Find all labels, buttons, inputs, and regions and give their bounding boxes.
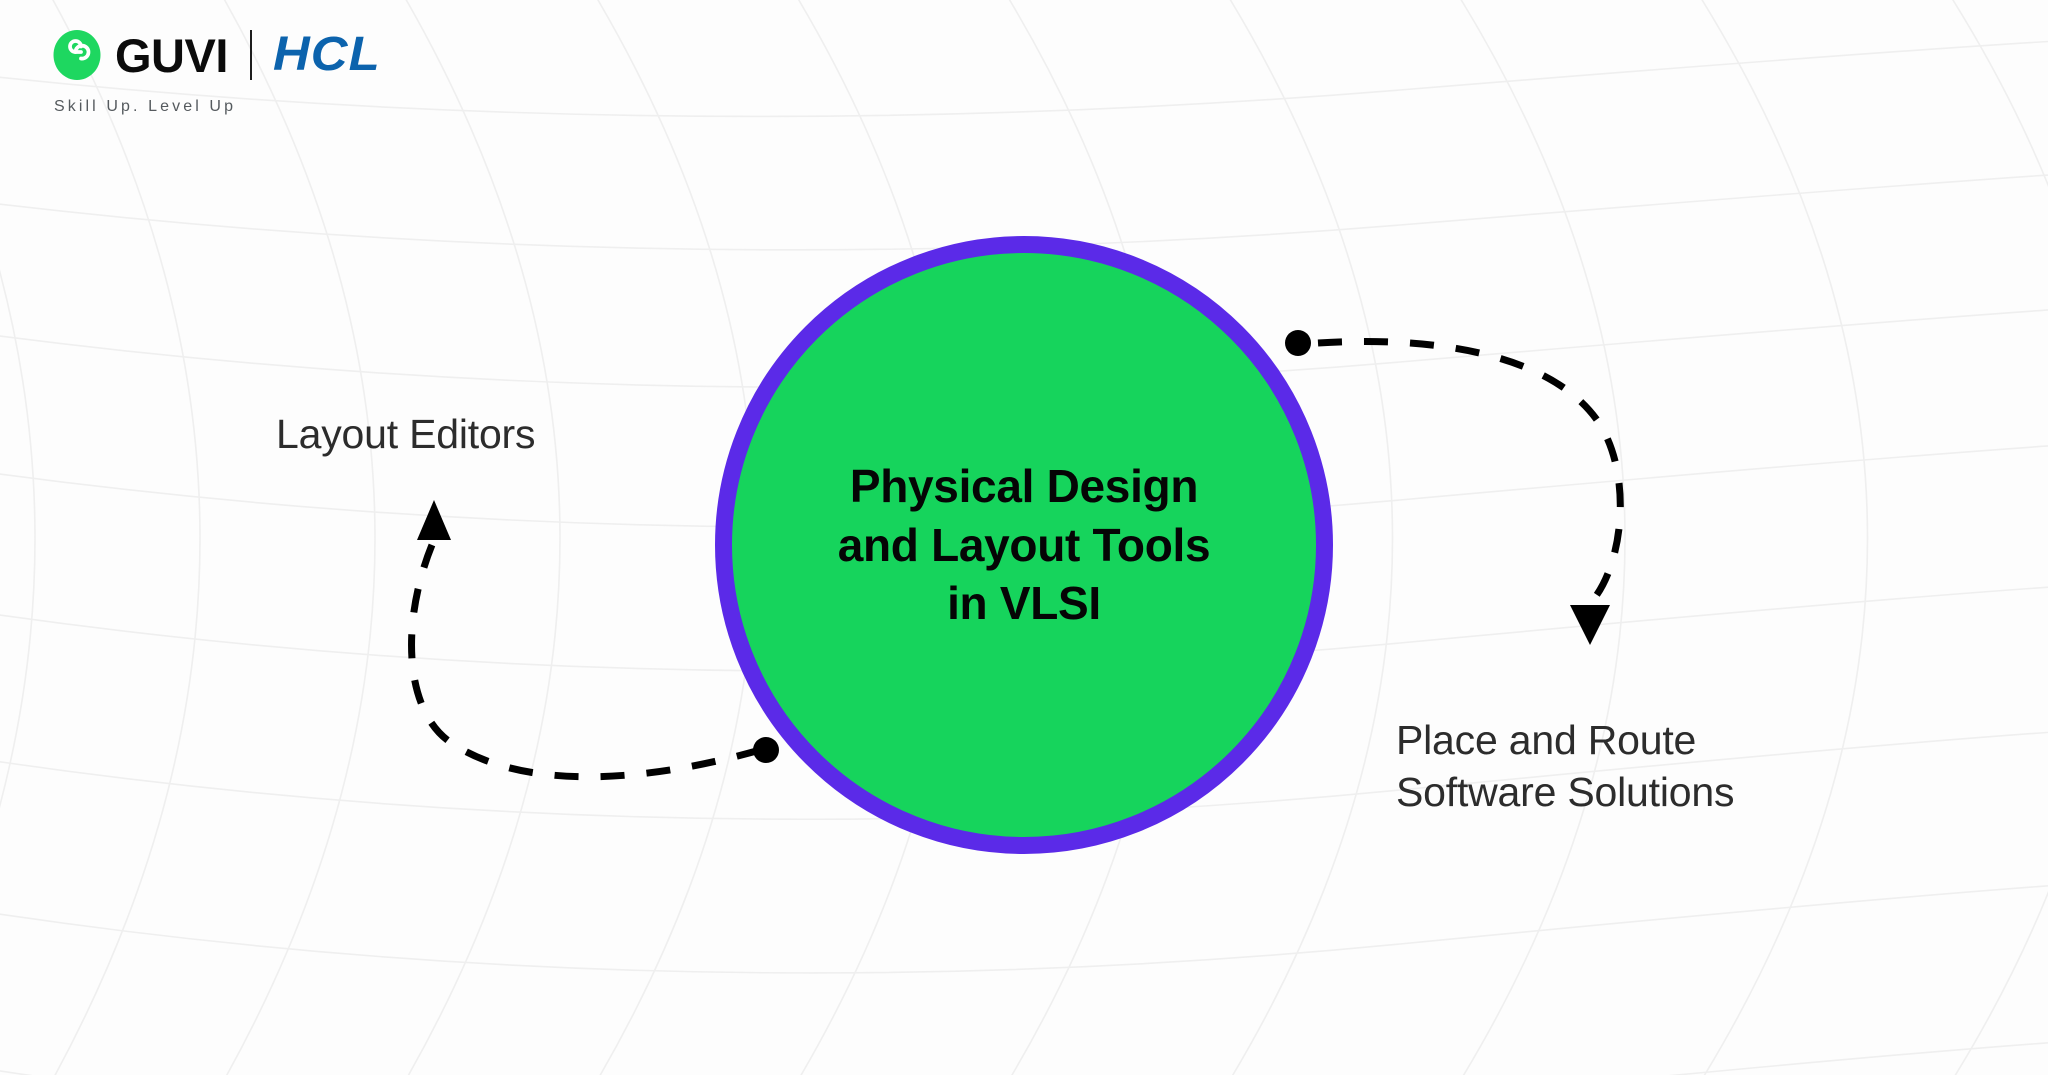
connector-right: [1285, 330, 1620, 645]
center-node-circle: Physical Design and Layout Tools in VLSI: [715, 236, 1333, 854]
branch-label-place-and-route-line-1: Place and Route: [1396, 714, 1734, 766]
branch-label-place-and-route: Place and Route Software Solutions: [1396, 714, 1734, 819]
branch-label-place-and-route-line-2: Software Solutions: [1396, 766, 1734, 818]
connector-left-origin-dot: [753, 737, 779, 763]
center-node-title-line-2: and Layout Tools: [838, 516, 1211, 574]
guvi-logo-icon: [52, 30, 102, 80]
center-node-title-line-1: Physical Design: [838, 457, 1211, 515]
hcl-wordmark: HCL: [273, 31, 381, 79]
slide-canvas: GUVI HCL Skill Up. Level Up Physical Des…: [0, 0, 2048, 1075]
center-node-title: Physical Design and Layout Tools in VLSI: [812, 457, 1237, 632]
logo-row: GUVI HCL: [52, 24, 375, 86]
branch-label-layout-editors: Layout Editors: [276, 408, 535, 460]
branch-label-layout-editors-line-1: Layout Editors: [276, 408, 535, 460]
connector-right-arrowhead: [1570, 605, 1610, 645]
center-node-title-line-3: in VLSI: [838, 574, 1211, 632]
brand-tagline: Skill Up. Level Up: [54, 98, 236, 116]
guvi-wordmark: GUVI: [115, 32, 228, 79]
connector-left-arrowhead: [417, 500, 451, 540]
connector-right-origin-dot: [1285, 330, 1311, 356]
logo-divider: [250, 30, 252, 80]
brand-logo-lockup: GUVI HCL Skill Up. Level Up: [52, 24, 375, 116]
